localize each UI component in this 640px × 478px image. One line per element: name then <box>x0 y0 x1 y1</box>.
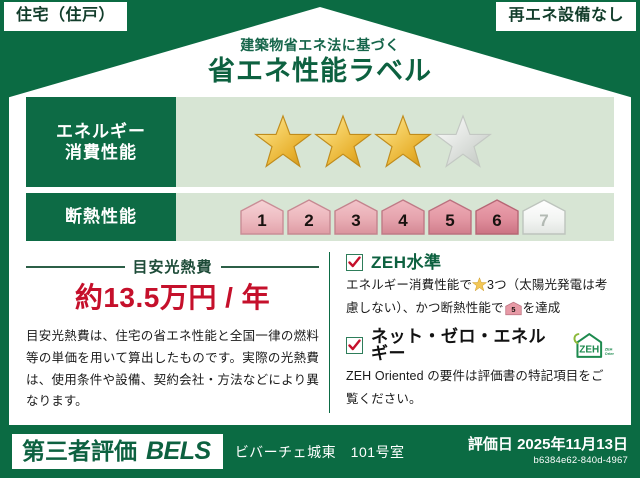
star-rating <box>254 113 492 171</box>
badge-renewable-energy: 再エネ設備なし <box>496 2 636 31</box>
label-header: 建築物省エネ法に基づく 省エネ性能ラベル <box>0 38 640 85</box>
star-icon-filled-1 <box>254 113 312 171</box>
insulation-level-6-number: 6 <box>474 198 520 236</box>
page-title: 省エネ性能ラベル <box>0 58 640 85</box>
evaluation-date: 評価日 2025年11月13日 <box>468 436 628 454</box>
lower-section: 目安光熱費 約13.5万円 / 年 目安光熱費は、住宅の省エネ性能と全国一律の燃… <box>26 250 614 415</box>
energy-performance-label: エネルギー 消費性能 <box>26 97 176 187</box>
check-icon <box>348 256 361 269</box>
energy-performance-row: エネルギー 消費性能 <box>26 97 614 187</box>
utility-cost-heading-text: 目安光熱費 <box>133 256 213 277</box>
evaluation-id: b6384e62-840d-4967 <box>468 455 628 466</box>
bels-plate: 第三者評価 BELS <box>12 434 223 470</box>
insulation-level-5: 5 <box>427 198 473 236</box>
zeh-column: ZEH水準 エネルギー消費性能で3つ（太陽光発電は考慮しない）、かつ断熱性能で5… <box>330 250 614 415</box>
insulation-scale: 1 2 <box>239 198 567 236</box>
evaluation-info: 評価日 2025年11月13日 b6384e62-840d-4967 <box>468 436 628 466</box>
header-subtitle: 建築物省エネ法に基づく <box>0 38 640 52</box>
badge-building-type: 住宅（住戸） <box>4 2 127 31</box>
check-icon <box>348 339 361 352</box>
svg-text:ZEH: ZEH <box>605 347 613 351</box>
bels-japanese-text: 第三者評価 <box>22 438 137 464</box>
label-footer: 第三者評価 BELS ビバーチェ城東 101号室 評価日 2025年11月13日… <box>0 425 640 478</box>
zeh-standard-body-part3: を達成 <box>523 301 561 315</box>
star-icon-inline <box>472 277 487 292</box>
checkbox-zeh-standard[interactable] <box>346 254 363 271</box>
insulation-level-2: 2 <box>286 198 332 236</box>
insulation-level-4: 4 <box>380 198 426 236</box>
insulation-level-3: 3 <box>333 198 379 236</box>
insulation-level-7: 7 <box>521 198 567 236</box>
star-icon-empty-4 <box>434 113 492 171</box>
star-icon-filled-2 <box>314 113 372 171</box>
star-icon-filled-3 <box>374 113 432 171</box>
svg-text:Oriented: Oriented <box>605 352 614 356</box>
label-content: エネルギー 消費性能 <box>26 97 614 417</box>
energy-label-line-1: エネルギー <box>56 121 146 142</box>
insulation-label-text: 断熱性能 <box>65 206 137 227</box>
heading-rule-right <box>221 266 320 268</box>
utility-cost-amount: 約13.5万円 / 年 <box>26 283 319 314</box>
net-zero-body: ZEH Oriented の要件は評価書の特記項目をご覧ください。 <box>346 365 614 410</box>
insulation-level-1: 1 <box>239 198 285 236</box>
insulation-performance-row: 断熱性能 1 <box>26 193 614 241</box>
utility-cost-heading: 目安光熱費 <box>26 256 319 277</box>
property-name: ビバーチェ城東 101号室 <box>235 442 405 462</box>
house-icon-inline-level5: 5 <box>505 301 522 316</box>
insulation-level-4-number: 4 <box>380 198 426 236</box>
insulation-performance-label: 断熱性能 <box>26 193 176 241</box>
zeh-standard-title: ZEH水準 <box>371 254 442 271</box>
heading-rule-left <box>26 266 125 268</box>
zeh-standard-body: エネルギー消費性能で3つ（太陽光発電は考慮しない）、かつ断熱性能で5を達成 <box>346 274 614 319</box>
insulation-level-3-number: 3 <box>333 198 379 236</box>
net-zero-header: ネット・ゼロ・エネルギー ZEH ZEH Oriented <box>346 328 614 362</box>
energy-performance-label: 住宅（住戸） 再エネ設備なし 建築物省エネ法に基づく 省エネ性能ラベル エネルギ… <box>0 0 640 478</box>
checkbox-net-zero-energy[interactable] <box>346 337 363 354</box>
zeh-standard-header: ZEH水準 <box>346 254 614 271</box>
svg-text:5: 5 <box>511 305 515 314</box>
net-zero-title: ネット・ゼロ・エネルギー <box>371 328 562 362</box>
insulation-level-1-number: 1 <box>239 198 285 236</box>
bels-logo-text: BELS <box>146 437 211 466</box>
energy-performance-value <box>176 97 614 187</box>
zeh-standard-body-part1: エネルギー消費性能で <box>346 278 472 292</box>
utility-cost-note: 目安光熱費は、住宅の省エネ性能と全国一律の燃料等の単価を用いて算出したものです。… <box>26 326 319 414</box>
insulation-level-6: 6 <box>474 198 520 236</box>
svg-text:ZEH: ZEH <box>579 344 599 355</box>
insulation-performance-value: 1 2 <box>176 193 614 241</box>
zeh-logo-icon: ZEH ZEH Oriented <box>572 330 614 360</box>
energy-label-line-2: 消費性能 <box>65 142 137 163</box>
insulation-level-5-number: 5 <box>427 198 473 236</box>
insulation-level-2-number: 2 <box>286 198 332 236</box>
insulation-level-7-number: 7 <box>521 198 567 236</box>
utility-cost-column: 目安光熱費 約13.5万円 / 年 目安光熱費は、住宅の省エネ性能と全国一律の燃… <box>26 250 329 415</box>
